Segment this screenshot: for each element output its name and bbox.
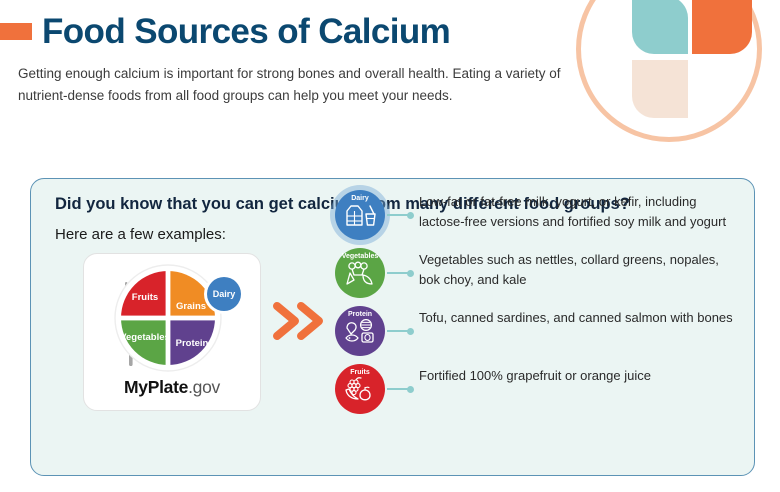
myplate-wordmark-gov: .gov (188, 377, 220, 397)
plate-label-protein: Protein (176, 338, 209, 349)
dairy-description: Low-fat or fat-free milk, yogurt, or kef… (413, 190, 740, 232)
page-title: Food Sources of Calcium (42, 14, 450, 49)
protein-icon-label: Protein (348, 311, 372, 318)
list-item: Fruits (335, 364, 740, 414)
vegetables-icon-label: Vegetables (342, 253, 379, 260)
fruits-connector-line (387, 388, 413, 390)
page-subtitle: Getting enough calcium is important for … (18, 63, 588, 107)
title-accent-bar (0, 23, 32, 40)
fruits-icon-label: Fruits (350, 369, 369, 376)
myplate-logo-card: Fruits Grains Vegetables Protein Dairy M… (83, 253, 261, 411)
plate-label-grains: Grains (176, 301, 206, 312)
arrow-column (263, 226, 335, 422)
dairy-icon-cell: Dairy (335, 190, 413, 240)
protein-group-icon: Protein (335, 306, 385, 356)
food-group-list: Dairy Low-fat or fat-free milk (335, 190, 754, 422)
grapes-banana-apple-icon (343, 377, 377, 401)
fruits-description: Fortified 100% grapefruit or orange juic… (413, 364, 651, 386)
myplate-column: Here are a few examples: (31, 226, 263, 422)
plate-label-dairy: Dairy (213, 289, 236, 299)
cream-square-shape (632, 60, 688, 118)
examples-label: Here are a few examples: (55, 226, 263, 243)
myplate-wordmark-bold: MyPlate (124, 377, 188, 397)
list-item: Dairy Low-fat or fat-free milk (335, 190, 740, 240)
myplate-wordmark: MyPlate.gov (84, 377, 260, 398)
vegetables-group-icon: Vegetables (335, 248, 385, 298)
page-header: Food Sources of Calcium Getting enough c… (0, 0, 600, 107)
protein-connector-line (387, 330, 413, 332)
protein-icon-cell: Protein (335, 306, 413, 356)
dairy-icon-label: Dairy (351, 195, 369, 202)
vegetables-icon-cell: Vegetables (335, 248, 413, 298)
protein-description: Tofu, canned sardines, and canned salmon… (413, 306, 733, 328)
double-chevron-right-icon (271, 300, 327, 342)
dairy-group-icon: Dairy (335, 190, 385, 240)
milk-carton-and-cup-icon (343, 203, 377, 227)
list-item: Vegetables Vegetables such as nettles, c… (335, 248, 740, 298)
title-row: Food Sources of Calcium (0, 0, 600, 49)
info-card: Did you know that you can get calcium fr… (30, 178, 755, 476)
circle-outline-shape (576, 0, 762, 142)
dairy-connector-line (387, 214, 413, 216)
plate-label-vegetables: Vegetables (120, 332, 170, 343)
plate-label-fruits: Fruits (132, 292, 158, 303)
carrot-broccoli-greens-icon (343, 261, 377, 285)
myplate-plate-icon: Fruits Grains Vegetables Protein Dairy (114, 262, 242, 374)
vegetables-connector-line (387, 272, 413, 274)
list-item: Protein Tofu, canned sardines, (335, 306, 740, 356)
fruits-group-icon: Fruits (335, 364, 385, 414)
fruits-icon-cell: Fruits (335, 364, 413, 414)
vegetables-description: Vegetables such as nettles, collard gree… (413, 248, 740, 290)
card-body: Here are a few examples: (31, 226, 754, 422)
meat-fish-egg-icon (343, 319, 377, 343)
myplate-graphic: Fruits Grains Vegetables Protein Dairy (114, 262, 242, 374)
teal-square-shape (632, 0, 688, 54)
orange-square-shape (692, 0, 752, 54)
